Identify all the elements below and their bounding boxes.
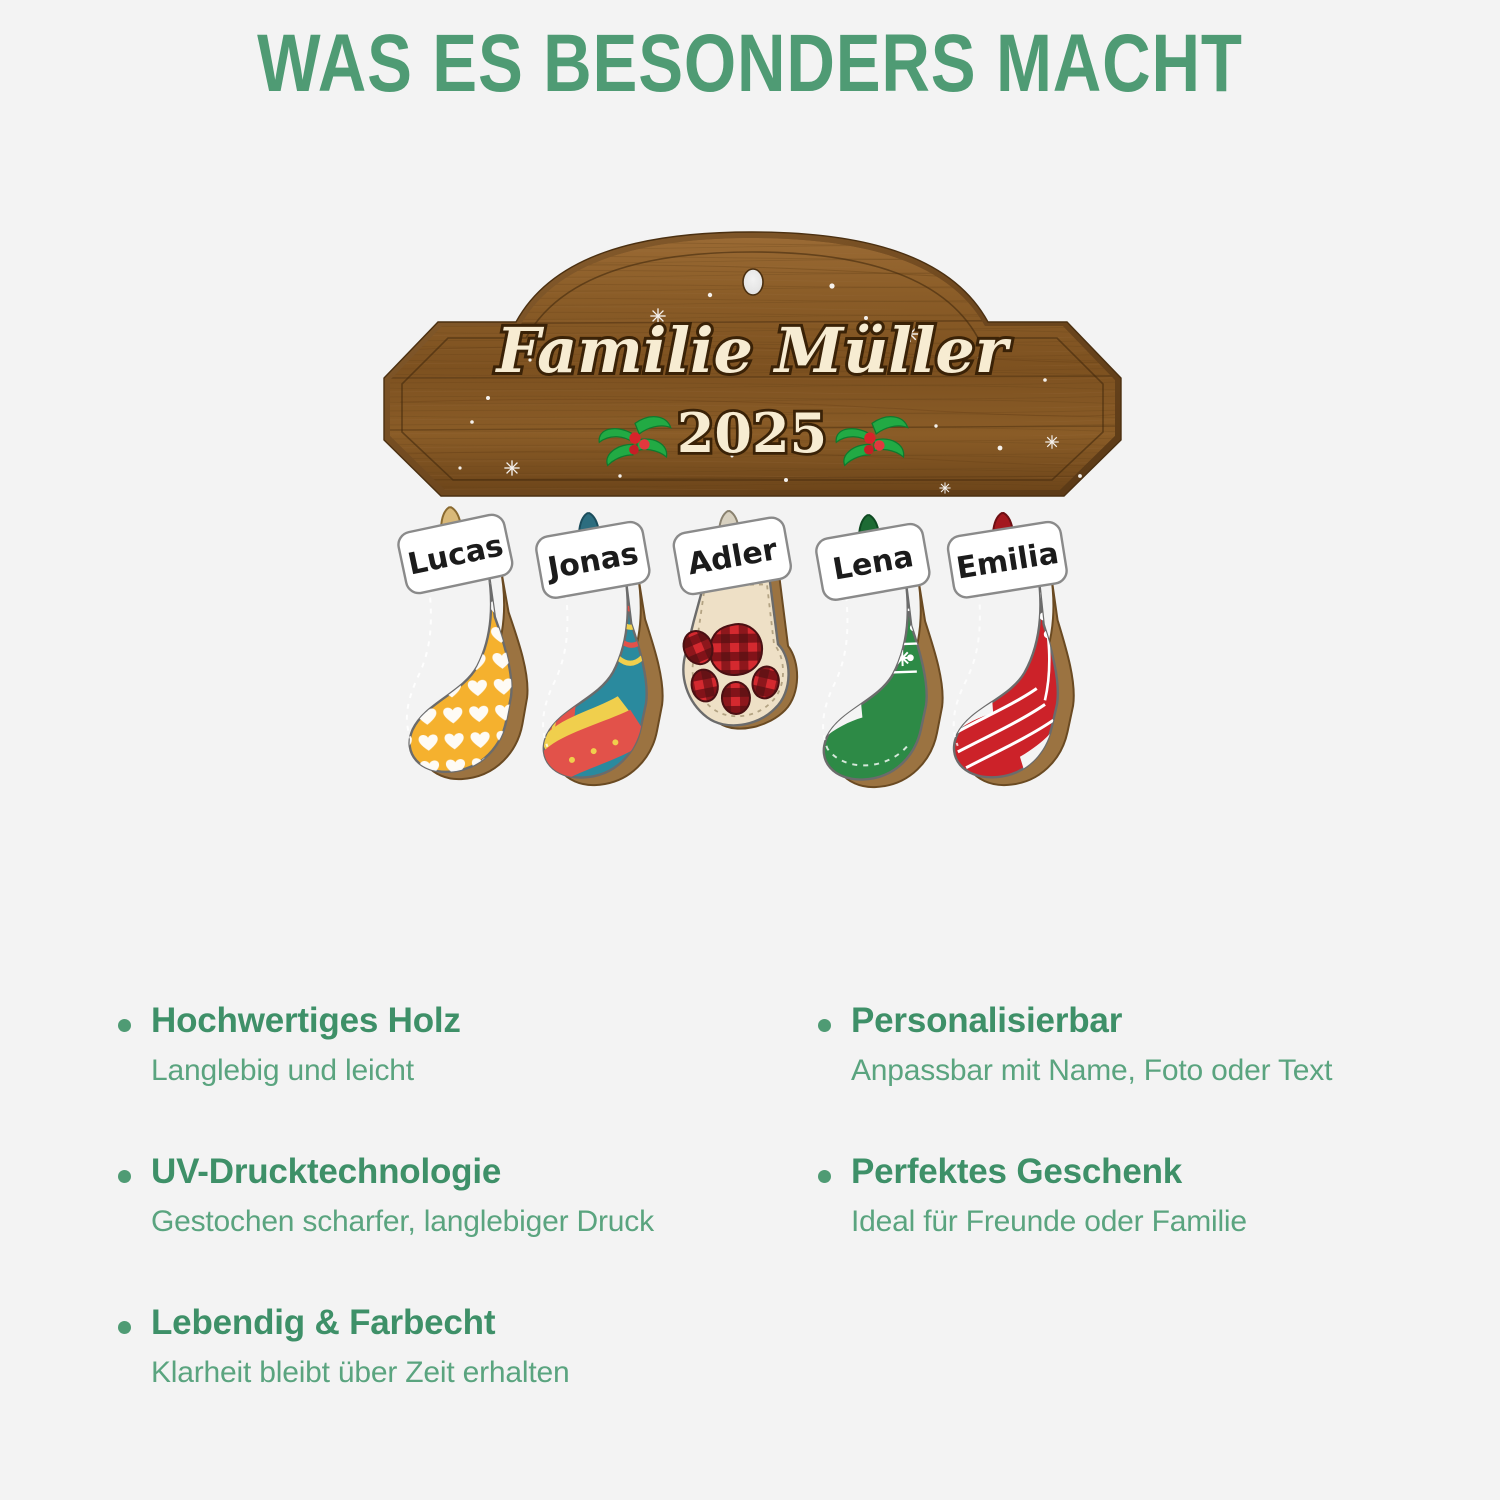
stocking-adler[interactable]: Adler	[655, 498, 810, 791]
stockings-row: Lucas	[380, 495, 1125, 845]
feature-title: Personalisierbar	[851, 1000, 1332, 1043]
feature-subtitle: Ideal für Freunde oder Familie	[851, 1203, 1247, 1241]
feature-list: Hochwertiges Holz Langlebig und leicht U…	[0, 1000, 1500, 1440]
feature-subtitle: Klarheit bleibt über Zeit erhalten	[151, 1354, 569, 1392]
feature-subtitle: Anpassbar mit Name, Foto oder Text	[851, 1052, 1332, 1090]
year-text: 2025	[677, 401, 827, 465]
feature-title: Perfektes Geschenk	[851, 1151, 1247, 1194]
feature-item: UV-Drucktechnologie Gestochen scharfer, …	[118, 1151, 754, 1240]
feature-title: UV-Drucktechnologie	[151, 1151, 654, 1194]
hanging-hole-icon	[743, 269, 763, 295]
feature-column-left: Hochwertiges Holz Langlebig und leicht U…	[118, 1000, 754, 1454]
feature-title: Lebendig & Farbecht	[151, 1302, 569, 1345]
feature-item: Lebendig & Farbecht Klarheit bleibt über…	[118, 1302, 754, 1391]
feature-column-right: Personalisierbar Anpassbar mit Name, Fot…	[754, 1000, 1390, 1454]
bullet-icon	[118, 1170, 131, 1183]
stocking-jonas[interactable]: Jonas	[515, 498, 675, 793]
bullet-icon	[818, 1170, 831, 1183]
feature-item: Personalisierbar Anpassbar mit Name, Fot…	[818, 1000, 1390, 1089]
page-root: WAS ES BESONDERS MACHT	[0, 0, 1500, 1500]
stocking-body	[818, 579, 930, 781]
bullet-icon	[118, 1019, 131, 1032]
bullet-icon	[118, 1321, 131, 1334]
family-name-text: Familie Müller	[494, 314, 1011, 387]
feature-title: Hochwertiges Holz	[151, 1000, 461, 1043]
feature-subtitle: Langlebig und leicht	[151, 1052, 461, 1090]
feature-item: Perfektes Geschenk Ideal für Freunde ode…	[818, 1151, 1390, 1240]
bullet-icon	[818, 1019, 831, 1032]
feature-item: Hochwertiges Holz Langlebig und leicht	[118, 1000, 754, 1089]
stocking-emilia[interactable]: Emilia	[929, 500, 1084, 793]
page-header: WAS ES BESONDERS MACHT	[0, 0, 1500, 128]
feature-subtitle: Gestochen scharfer, langlebiger Druck	[151, 1203, 654, 1241]
page-title: WAS ES BESONDERS MACHT	[257, 23, 1243, 105]
product-stage: Familie Müller 2025	[380, 240, 1125, 860]
product-image: Familie Müller 2025	[0, 170, 1500, 860]
